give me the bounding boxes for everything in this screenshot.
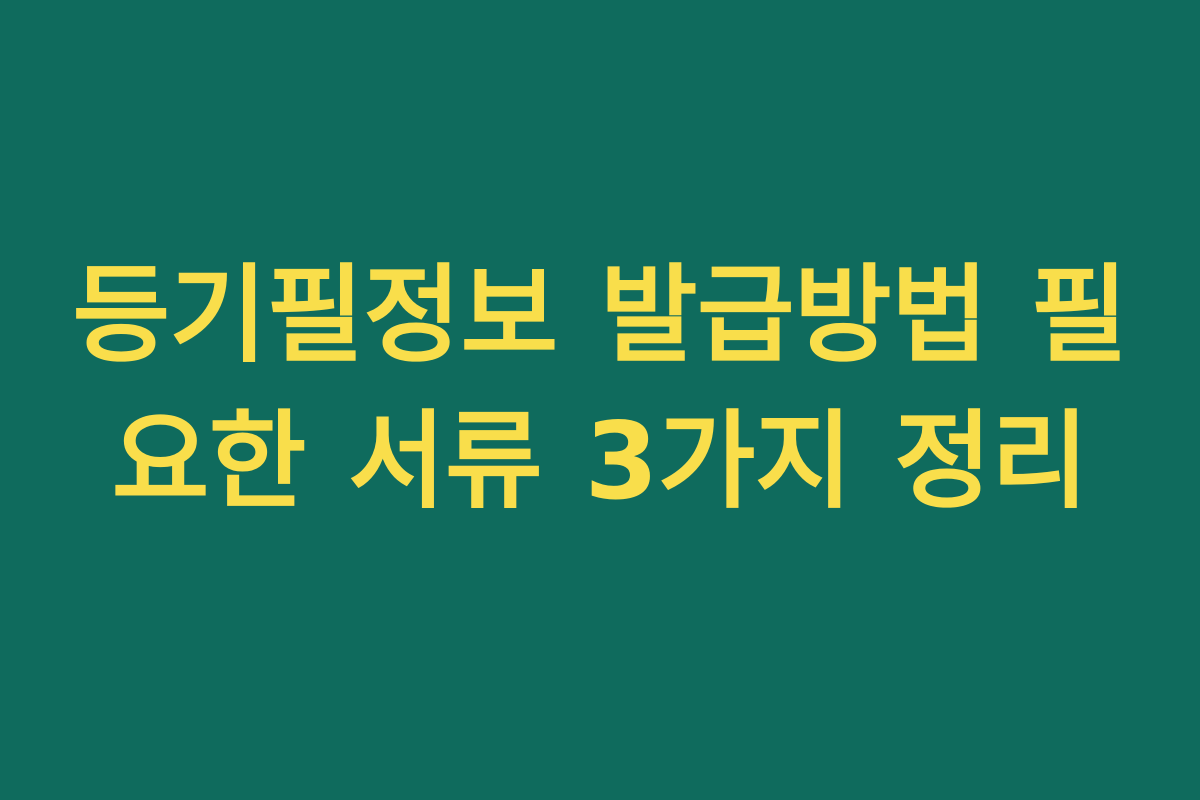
thumbnail-card: 등기필정보 발급방법 필 요한 서류 3가지 정리	[0, 0, 1200, 800]
title-line-2: 요한 서류 3가지 정리	[60, 389, 1140, 535]
page-title: 등기필정보 발급방법 필 요한 서류 3가지 정리	[60, 243, 1140, 535]
title-line-1: 등기필정보 발급방법 필	[60, 243, 1140, 389]
